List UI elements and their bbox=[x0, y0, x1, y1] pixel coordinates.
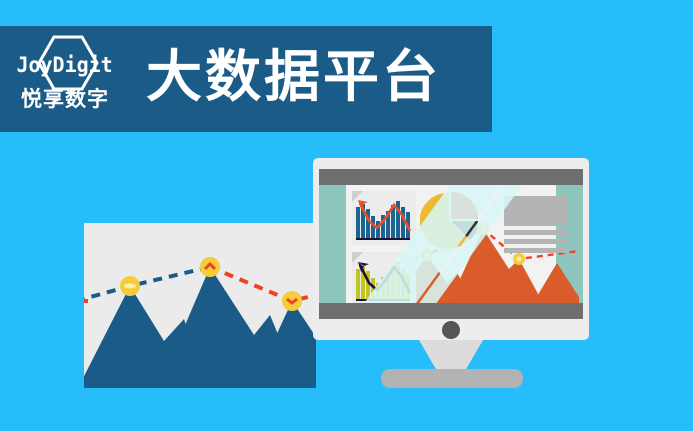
trend-line-red-stub bbox=[84, 299, 88, 303]
data-point-marker bbox=[120, 276, 140, 296]
data-point-marker bbox=[282, 291, 302, 311]
monitor-stand-neck bbox=[419, 340, 483, 371]
monitor-stand-base bbox=[381, 369, 523, 388]
data-point-marker bbox=[513, 253, 525, 265]
trend-line-blue bbox=[84, 267, 210, 301]
background-chart-svg bbox=[84, 223, 316, 388]
card-fold-corner bbox=[352, 252, 363, 263]
desktop-monitor bbox=[313, 158, 589, 393]
text-placeholder-block bbox=[504, 196, 568, 253]
monitor-bezel-bottom bbox=[319, 303, 583, 319]
page-title: 大数据平台 bbox=[146, 49, 441, 109]
mountain-shape bbox=[533, 263, 579, 303]
blue-bar-chart-card[interactable] bbox=[352, 191, 416, 245]
text-placeholder-line bbox=[504, 239, 568, 244]
monitor-power-button[interactable] bbox=[442, 321, 460, 339]
image-placeholder bbox=[504, 196, 568, 226]
axis-line bbox=[356, 238, 410, 240]
monitor-screen[interactable] bbox=[319, 185, 583, 303]
brand-logo[interactable]: JoyDigit 悦享数字 bbox=[6, 31, 124, 127]
data-point-marker bbox=[200, 257, 220, 277]
header-banner: JoyDigit 悦享数字 大数据平台 bbox=[0, 26, 492, 132]
card-fold-corner bbox=[352, 191, 363, 202]
brand-logo-chinese-text: 悦享数字 bbox=[21, 89, 109, 110]
text-placeholder-line bbox=[504, 230, 568, 235]
monitor-bezel-top bbox=[319, 169, 583, 185]
text-placeholder-line bbox=[504, 248, 568, 253]
brand-logo-latin-text: JoyDigit bbox=[17, 55, 113, 76]
background-mountain-chart bbox=[84, 223, 316, 388]
